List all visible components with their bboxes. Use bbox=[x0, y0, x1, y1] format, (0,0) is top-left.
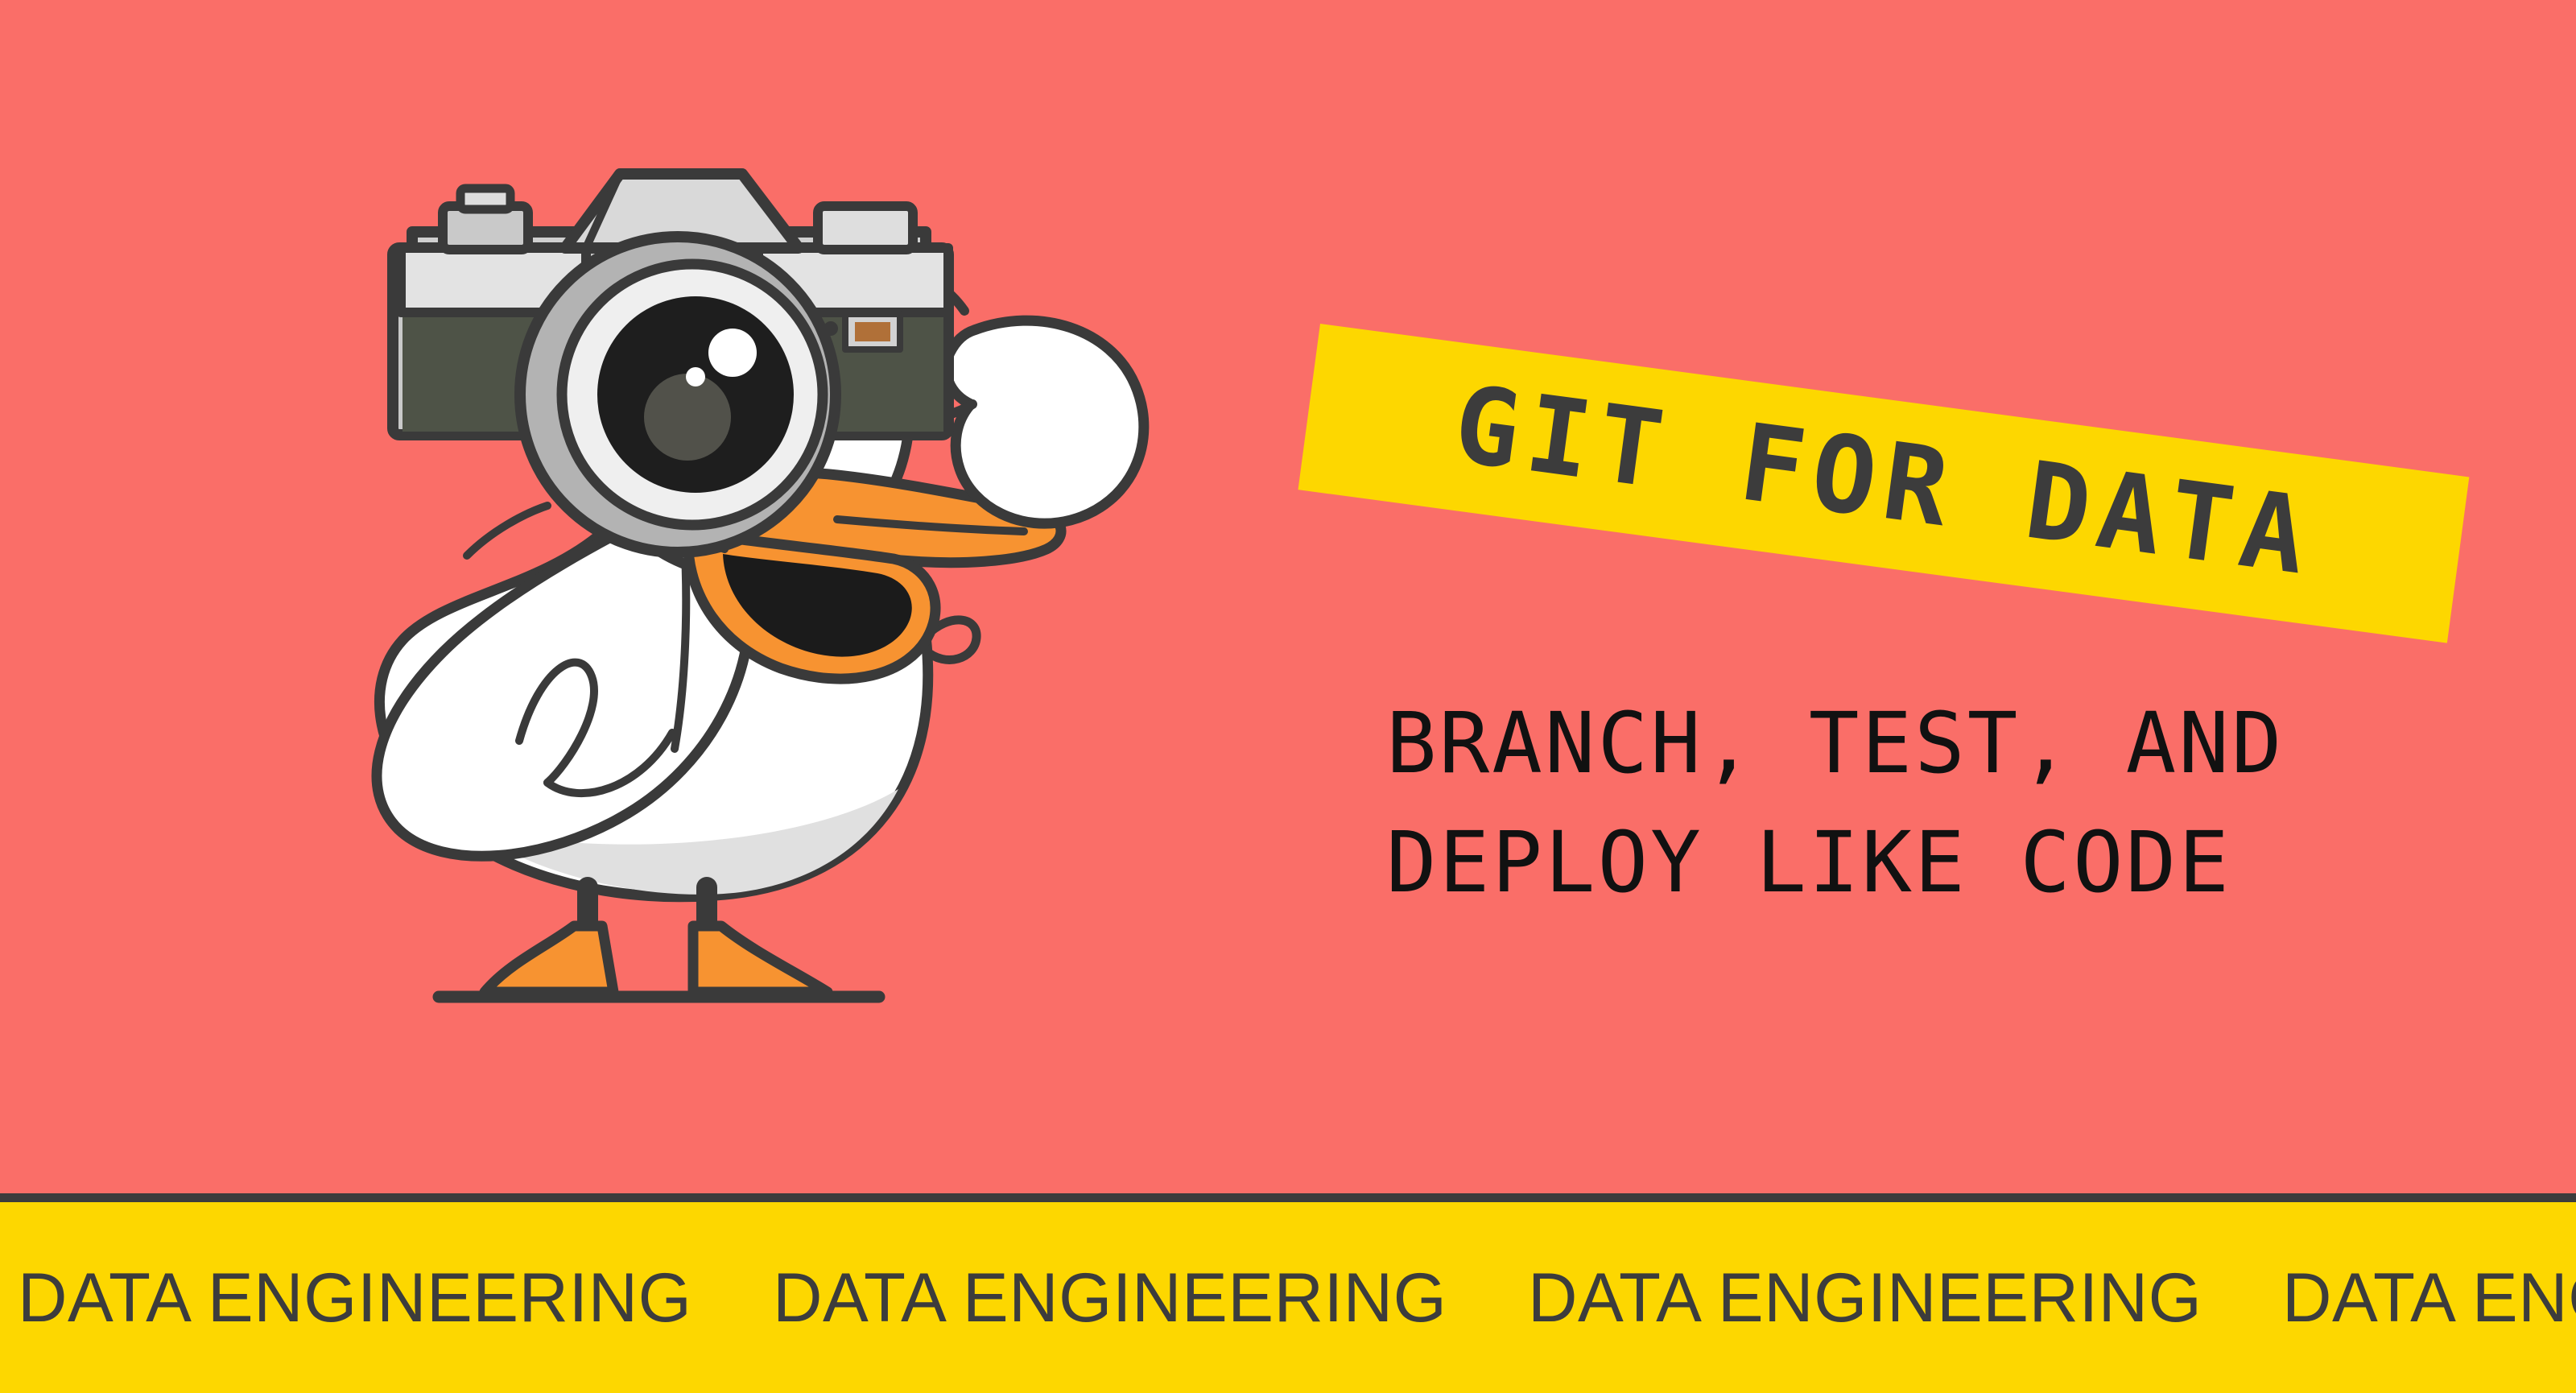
ticker-bar: DATA ENGINEERING DATA ENGINEERING DATA E… bbox=[0, 1202, 2576, 1393]
duck-foot-left bbox=[485, 926, 613, 992]
ticker-track: DATA ENGINEERING DATA ENGINEERING DATA E… bbox=[18, 1202, 2576, 1393]
ticker-item: DATA ENGINEERING bbox=[773, 1263, 1447, 1333]
duck-foot-right bbox=[693, 926, 828, 992]
hero-subtitle: BRANCH, TEST, AND DEPLOY LIKE CODE bbox=[1386, 684, 2284, 922]
duck-with-camera-illustration bbox=[201, 153, 1216, 1031]
camera-lens-highlight-big bbox=[708, 329, 757, 377]
ticker-item: DATA ENGINEERING bbox=[18, 1263, 691, 1333]
hero-text-column: GIT FOR DATA BRANCH, TEST, AND DEPLOY LI… bbox=[1304, 306, 2528, 950]
camera-lens-highlight-small bbox=[686, 367, 705, 386]
ticker-item: DATA ENGINEERING bbox=[2282, 1263, 2576, 1333]
hero-section: GIT FOR DATA BRANCH, TEST, AND DEPLOY LI… bbox=[0, 0, 2576, 1193]
poster-canvas: GIT FOR DATA BRANCH, TEST, AND DEPLOY LI… bbox=[0, 0, 2576, 1393]
subtitle-line-2: DEPLOY LIKE CODE bbox=[1386, 804, 2284, 923]
ticker-divider-rule bbox=[0, 1193, 2576, 1202]
ticker-item: DATA ENGINEERING bbox=[1528, 1263, 2202, 1333]
duck-hand bbox=[946, 320, 1144, 523]
camera-lens-reflect bbox=[644, 374, 731, 461]
title-banner: GIT FOR DATA bbox=[1298, 324, 2469, 643]
page-title: GIT FOR DATA bbox=[1448, 371, 2319, 596]
subtitle-line-1: BRANCH, TEST, AND bbox=[1386, 684, 2284, 804]
wing-feather-line bbox=[467, 506, 547, 556]
